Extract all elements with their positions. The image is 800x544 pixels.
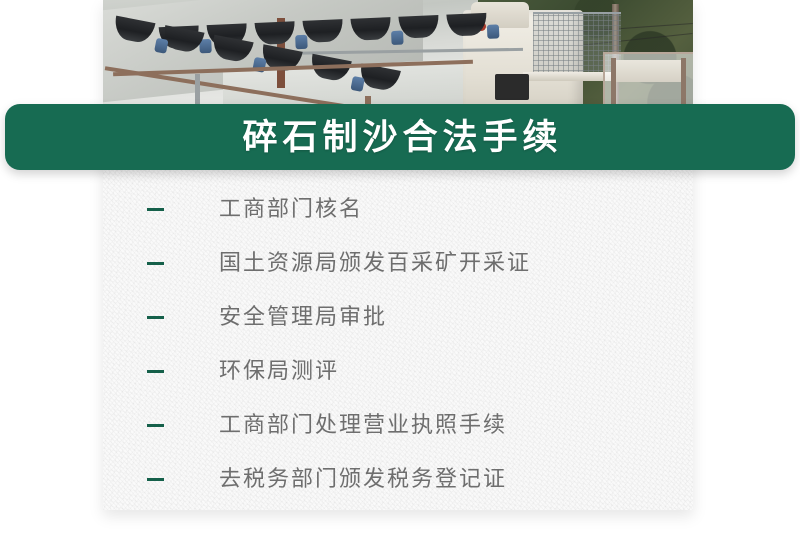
list-item: 安全管理局审批 [103, 290, 693, 344]
list-item: 工商部门处理营业执照手续 [103, 398, 693, 452]
photo-frame-panel [615, 60, 685, 82]
photo-belt-trough [255, 21, 296, 45]
photo-belt-trough [398, 15, 439, 39]
photo-belt-roller [391, 31, 404, 46]
photo-machine-outlet [495, 74, 529, 100]
photo-belt-roller [350, 76, 364, 92]
dash-bullet-icon [147, 208, 164, 211]
list-item-label: 工商部门核名 [219, 198, 363, 220]
page-title: 碎石制沙合法手续 [237, 120, 562, 155]
list-item: 去税务部门颁发税务登记证 [103, 452, 693, 506]
dash-bullet-icon [147, 316, 164, 319]
list-item-label: 去税务部门颁发税务登记证 [219, 468, 507, 490]
photo-belt-roller [487, 24, 500, 39]
list-item: 工商部门核名 [103, 182, 693, 236]
dash-bullet-icon [147, 370, 164, 373]
list-item-label: 国土资源局颁发百采矿开采证 [219, 252, 531, 274]
photo-belt-roller [295, 35, 308, 50]
title-banner: 碎石制沙合法手续 [5, 104, 795, 170]
list-item-label: 工商部门处理营业执照手续 [219, 414, 507, 436]
photo-belt-trough [446, 13, 487, 37]
steps-list: 工商部门核名 国土资源局颁发百采矿开采证 安全管理局审批 环保局测评 工商部门处… [103, 182, 693, 506]
dash-bullet-icon [147, 424, 164, 427]
list-item: 环保局测评 [103, 344, 693, 398]
dash-bullet-icon [147, 478, 164, 481]
dash-bullet-icon [147, 262, 164, 265]
list-item: 国土资源局颁发百采矿开采证 [103, 236, 693, 290]
list-item-label: 环保局测评 [219, 360, 339, 382]
photo-belt-roller [154, 38, 168, 54]
photo-belt-trough [350, 17, 391, 41]
photo-belt-trough [302, 19, 343, 43]
list-item-label: 安全管理局审批 [219, 306, 387, 328]
